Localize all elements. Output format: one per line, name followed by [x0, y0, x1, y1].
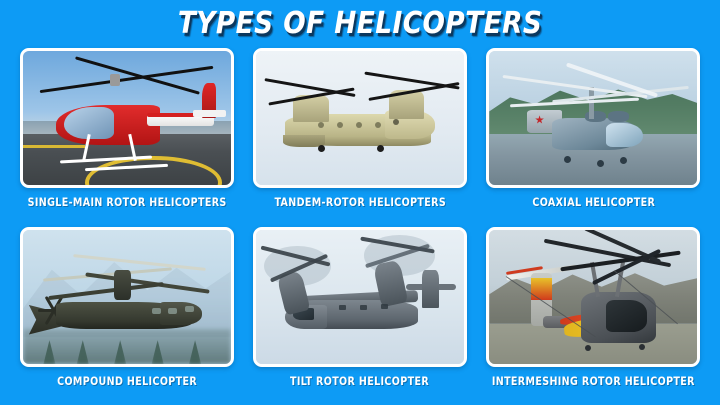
rotor-hub [114, 270, 131, 299]
card-label-compound: COMPOUND HELICOPTER [57, 374, 197, 388]
landing-gear-wheel [377, 145, 384, 152]
card-tandem-rotor[interactable] [253, 48, 467, 188]
photo-intermeshing-rotor [489, 230, 697, 364]
cabin-window [168, 308, 177, 314]
helicopter-type-grid: SINGLE-MAIN ROTOR HELICOPTERS [14, 48, 706, 400]
grid-cell-compound: COMPOUND HELICOPTER [14, 227, 239, 400]
card-label-coaxial: COAXIAL HELICOPTER [532, 195, 655, 209]
rotor-hub [110, 74, 120, 86]
coaxial-rotor-mast [589, 87, 594, 119]
card-label-tilt-rotor: TILT ROTOR HELICOPTER [290, 374, 429, 388]
photo-tandem-rotor [256, 51, 464, 185]
porthole-window [375, 122, 381, 128]
grid-cell-single-main-rotor: SINGLE-MAIN ROTOR HELICOPTERS [14, 48, 239, 221]
page-title: TYPES OF HELICOPTERS [178, 6, 543, 41]
card-single-main-rotor[interactable] [20, 48, 234, 188]
grid-cell-tilt-rotor: TILT ROTOR HELICOPTER [247, 227, 472, 400]
tarmac-line [23, 145, 85, 148]
card-tilt-rotor[interactable] [253, 227, 467, 367]
horizontal-stabilizer [193, 110, 226, 117]
grid-cell-intermeshing-rotor: INTERMESHING ROTOR HELICOPTER [481, 227, 706, 400]
nose-section [160, 302, 202, 325]
cabin-window [152, 308, 161, 314]
cockpit-glass [606, 123, 643, 147]
card-label-single-main-rotor: SINGLE-MAIN ROTOR HELICOPTERS [27, 195, 226, 209]
card-compound[interactable] [20, 227, 234, 367]
tail-fin [422, 270, 439, 308]
photo-tilt-rotor [256, 230, 464, 364]
cabin-window [381, 304, 388, 309]
cockpit-window [185, 306, 194, 312]
porthole-window [356, 122, 362, 128]
cockpit-glass [606, 300, 648, 332]
engine-housing [585, 111, 606, 122]
infographic-poster: TYPES OF HELICOPTERS [0, 0, 720, 405]
card-label-intermeshing-rotor: INTERMESHING ROTOR HELICOPTER [492, 374, 695, 388]
card-coaxial[interactable] [486, 48, 700, 188]
card-intermeshing-rotor[interactable] [486, 227, 700, 367]
grid-cell-coaxial: COAXIAL HELICOPTER [481, 48, 706, 221]
photo-compound [23, 230, 231, 364]
engine-housing [608, 111, 629, 122]
landing-gear-wheel [564, 156, 571, 163]
card-label-tandem-rotor: TANDEM-ROTOR HELICOPTERS [274, 195, 446, 209]
photo-single-main-rotor [23, 51, 231, 185]
cabin-window [360, 305, 367, 310]
propeller-blade [44, 310, 55, 325]
title-bar: TYPES OF HELICOPTERS [0, 0, 720, 46]
photo-coaxial [489, 51, 697, 185]
cabin-window [339, 305, 346, 310]
landing-gear-wheel [639, 344, 645, 350]
grid-cell-tandem-rotor: TANDEM-ROTOR HELICOPTERS [247, 48, 472, 221]
